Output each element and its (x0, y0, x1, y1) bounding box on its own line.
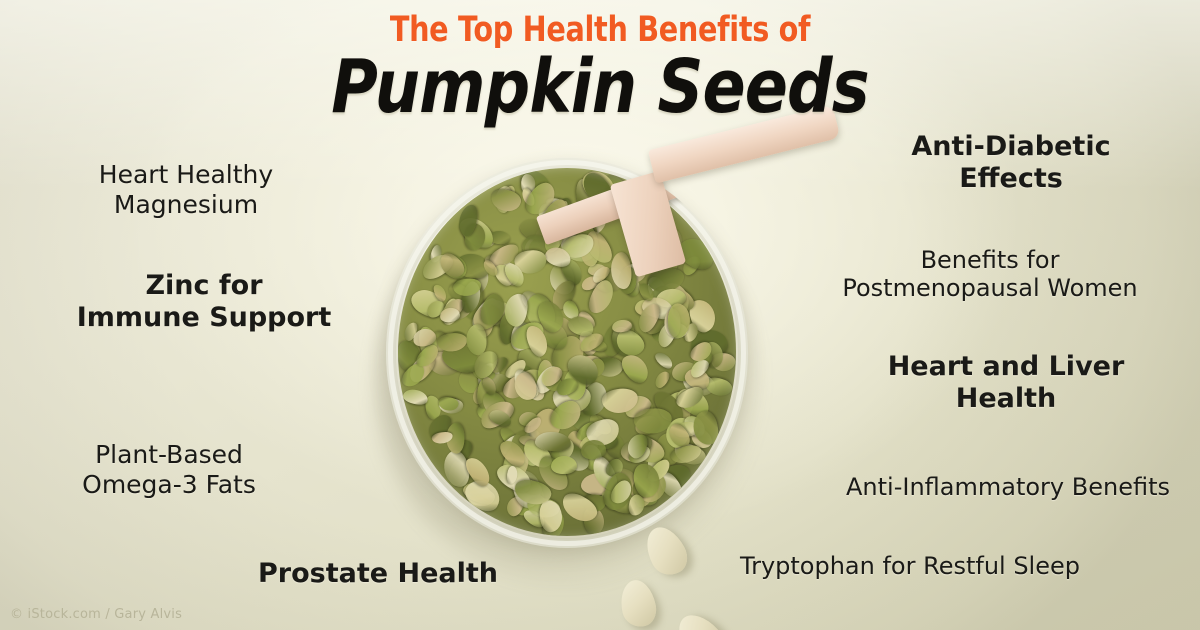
benefit-label-heart-and-liver: Heart and Liver Health (856, 351, 1156, 415)
pumpkin-seed (489, 187, 523, 214)
benefit-label-postmenopausal: Benefits for Postmenopausal Women (800, 246, 1180, 303)
benefit-label-zinc: Zinc for Immune Support (54, 270, 354, 334)
benefit-label-anti-inflammatory: Anti-Inflammatory Benefits (810, 473, 1170, 501)
pumpkin-seed (551, 456, 578, 475)
title-headline: Pumpkin Seeds (84, 50, 1116, 124)
pumpkin-seed-bowl-photo (330, 140, 770, 570)
glass-bowl (386, 158, 748, 548)
benefit-label-magnesium: Heart Healthy Magnesium (46, 160, 326, 219)
image-credit: © iStock.com / Gary Alvis (10, 607, 182, 622)
benefit-label-prostate-health: Prostate Health (218, 558, 538, 590)
infographic-poster: The Top Health Benefits of Pumpkin Seeds… (0, 0, 1200, 630)
benefit-label-tryptophan: Tryptophan for Restful Sleep (660, 552, 1080, 580)
pumpkin-seed (652, 369, 671, 390)
benefit-label-omega-3: Plant-Based Omega-3 Fats (34, 440, 304, 499)
loose-pumpkin-seed (616, 577, 659, 630)
pumpkin-seed (653, 350, 676, 372)
page-title: The Top Health Benefits of Pumpkin Seeds (0, 12, 1200, 124)
benefit-label-anti-diabetic: Anti-Diabetic Effects (866, 131, 1156, 195)
loose-pumpkin-seed (669, 606, 731, 630)
